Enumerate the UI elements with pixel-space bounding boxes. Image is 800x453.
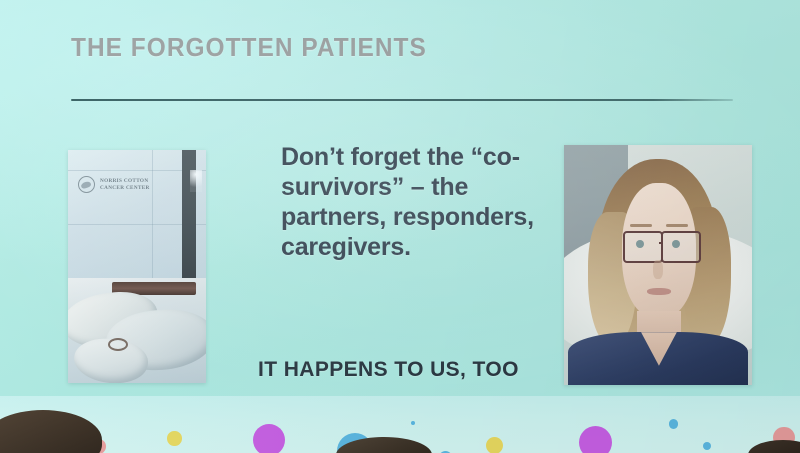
eyeglass-lens-right xyxy=(661,231,701,263)
eyeglass-bridge xyxy=(659,242,664,244)
slide-title: THE FORGOTTEN PATIENTS xyxy=(71,32,427,63)
slide-kicker-text: IT HAPPENS TO US, TOO xyxy=(258,358,519,382)
logo-text-block: NORRIS COTTON CANCER CENTER xyxy=(100,178,150,191)
hospital-hands-photo: NORRIS COTTON CANCER CENTER xyxy=(68,150,206,383)
title-divider-rule xyxy=(71,99,733,101)
confetti-dot xyxy=(253,424,285,453)
confetti-dot xyxy=(703,442,711,450)
confetti-dot xyxy=(669,419,678,428)
logo-line-1: NORRIS COTTON xyxy=(100,178,150,184)
wall-panel-line xyxy=(152,150,153,285)
eyebrow-right xyxy=(666,224,689,227)
slide-background: THE FORGOTTEN PATIENTS NORRIS COTTON CAN… xyxy=(0,0,800,400)
wedding-ring xyxy=(108,338,128,351)
confetti-dot xyxy=(167,431,182,446)
confetti-dot xyxy=(486,437,503,453)
cancer-center-logo: NORRIS COTTON CANCER CENTER xyxy=(78,176,150,193)
clasped-hands xyxy=(68,278,206,383)
logo-line-2: CANCER CENTER xyxy=(100,185,150,191)
eyebrow-left xyxy=(630,224,653,227)
confetti-dot xyxy=(579,426,612,453)
speaker-portrait-photo xyxy=(564,145,752,385)
swoosh-mark-icon xyxy=(78,176,95,193)
confetti-dot xyxy=(411,421,415,425)
ceiling-light xyxy=(190,170,202,192)
slide-body-text: Don’t forget the “co-survivors” – the pa… xyxy=(281,142,549,262)
eyeglass-lens-left xyxy=(623,231,663,263)
presentation-photo: THE FORGOTTEN PATIENTS NORRIS COTTON CAN… xyxy=(0,0,800,453)
nose xyxy=(653,260,662,279)
